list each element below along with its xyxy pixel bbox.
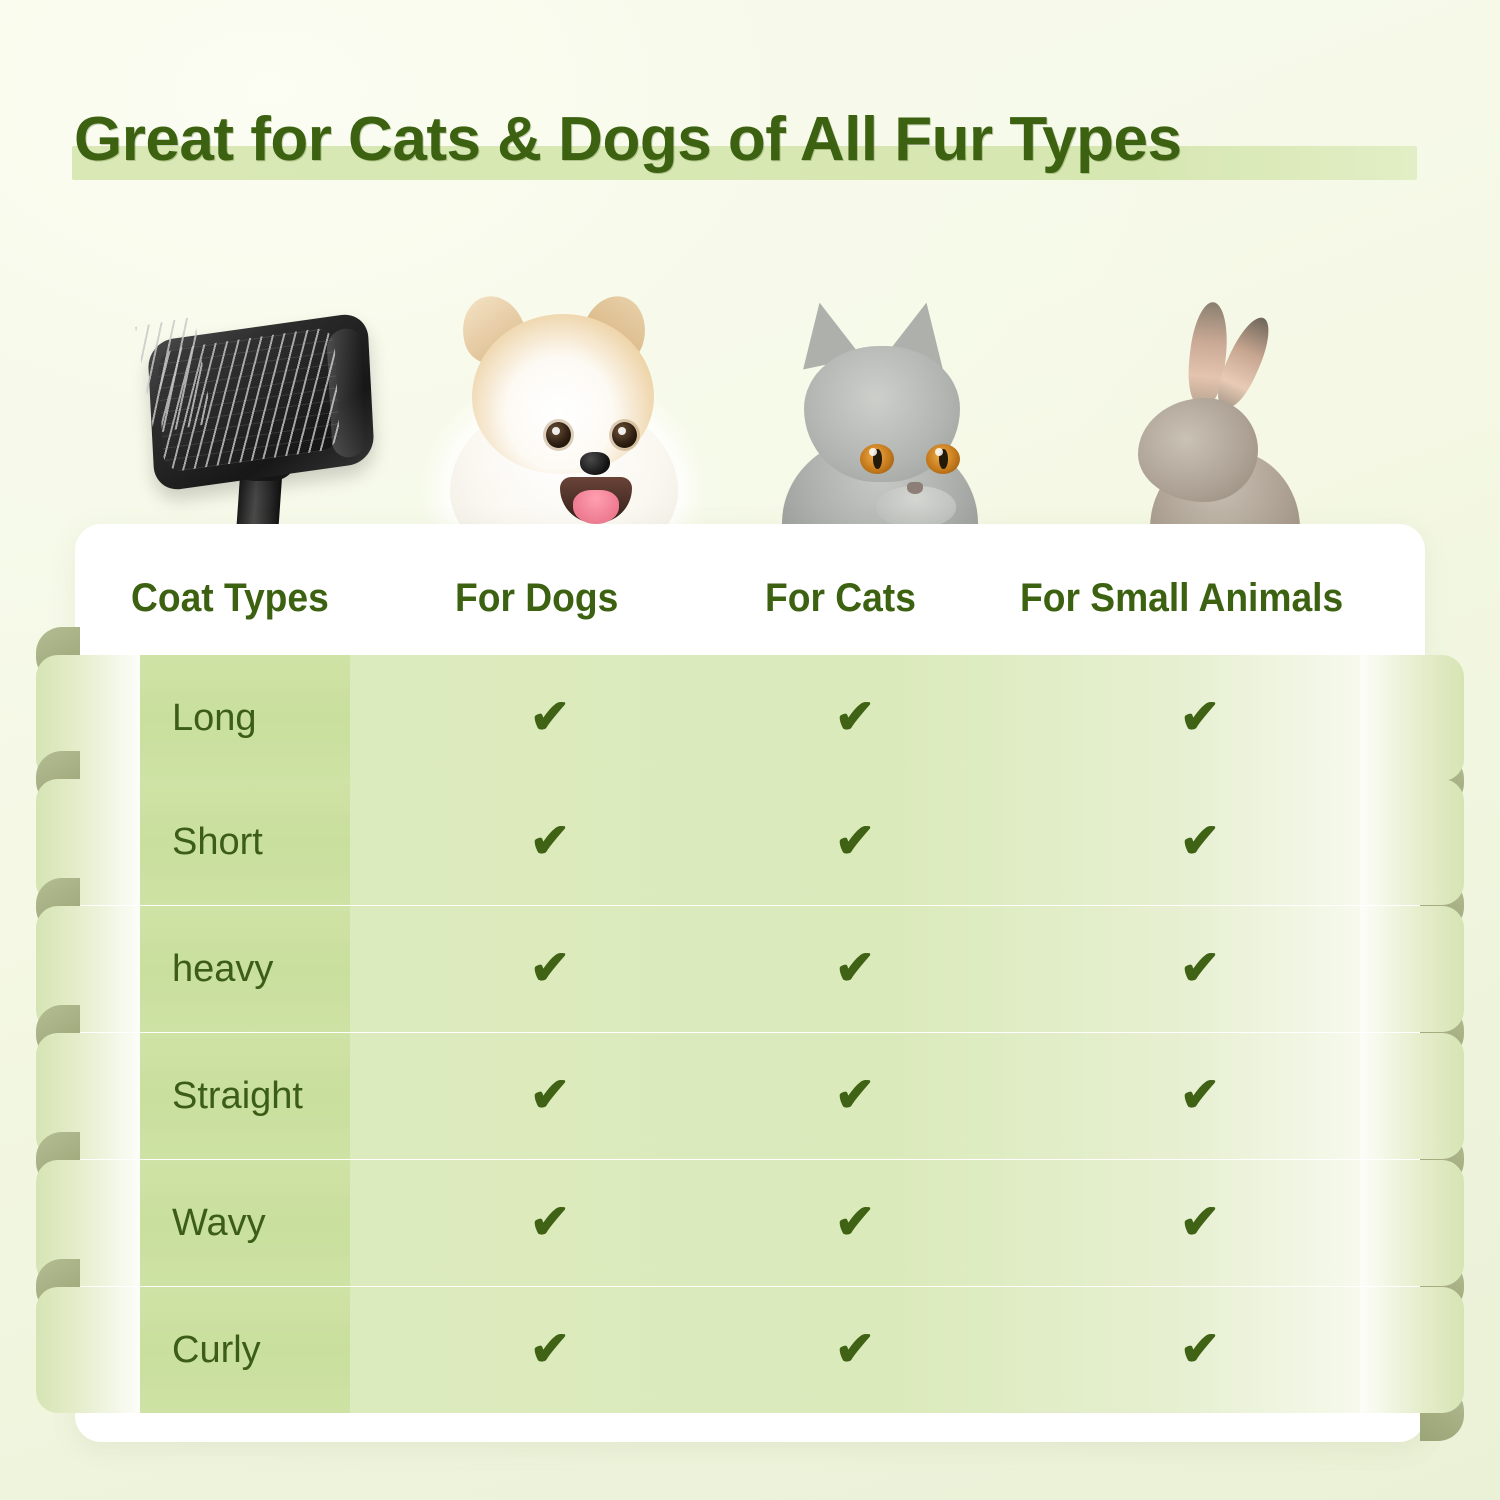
check-dogs: ✔ xyxy=(520,1287,580,1413)
check-small: ✔ xyxy=(1170,906,1230,1032)
ribbon-tail-right xyxy=(1354,655,1464,781)
check-small: ✔ xyxy=(1170,1287,1230,1413)
ribbon-tail-left xyxy=(36,1287,146,1413)
table-row: Long ✔ ✔ ✔ xyxy=(0,655,1500,781)
table-row: Curly ✔ ✔ ✔ xyxy=(0,1287,1500,1413)
check-cats: ✔ xyxy=(825,655,885,781)
check-dogs: ✔ xyxy=(520,1160,580,1286)
coat-type-label: Curly xyxy=(172,1287,261,1413)
table-row: heavy ✔ ✔ ✔ xyxy=(0,906,1500,1032)
check-cats: ✔ xyxy=(825,1160,885,1286)
check-dogs: ✔ xyxy=(520,779,580,905)
check-cats: ✔ xyxy=(825,1287,885,1413)
coat-type-label: heavy xyxy=(172,906,273,1032)
check-dogs: ✔ xyxy=(520,906,580,1032)
check-cats: ✔ xyxy=(825,1033,885,1159)
ribbon-tail-right xyxy=(1354,1033,1464,1159)
coat-type-label: Straight xyxy=(172,1033,303,1159)
coat-type-label: Long xyxy=(172,655,257,781)
table-row: Short ✔ ✔ ✔ xyxy=(0,779,1500,905)
table-row: Wavy ✔ ✔ ✔ xyxy=(0,1160,1500,1286)
check-small: ✔ xyxy=(1170,1033,1230,1159)
table-row: Straight ✔ ✔ ✔ xyxy=(0,1033,1500,1159)
ribbon-tail-right xyxy=(1354,1160,1464,1286)
check-small: ✔ xyxy=(1170,1160,1230,1286)
ribbon-tail-right xyxy=(1354,1287,1464,1413)
check-cats: ✔ xyxy=(825,906,885,1032)
coat-type-label: Short xyxy=(172,779,263,905)
check-cats: ✔ xyxy=(825,779,885,905)
coat-type-label: Wavy xyxy=(172,1160,266,1286)
check-dogs: ✔ xyxy=(520,1033,580,1159)
ribbon-rows: Long ✔ ✔ ✔ Short ✔ ✔ ✔ heavy ✔ ✔ ✔ Strai… xyxy=(0,0,1500,1500)
ribbon-tail-right xyxy=(1354,779,1464,905)
check-small: ✔ xyxy=(1170,779,1230,905)
check-small: ✔ xyxy=(1170,655,1230,781)
ribbon-tail-right xyxy=(1354,906,1464,1032)
check-dogs: ✔ xyxy=(520,655,580,781)
